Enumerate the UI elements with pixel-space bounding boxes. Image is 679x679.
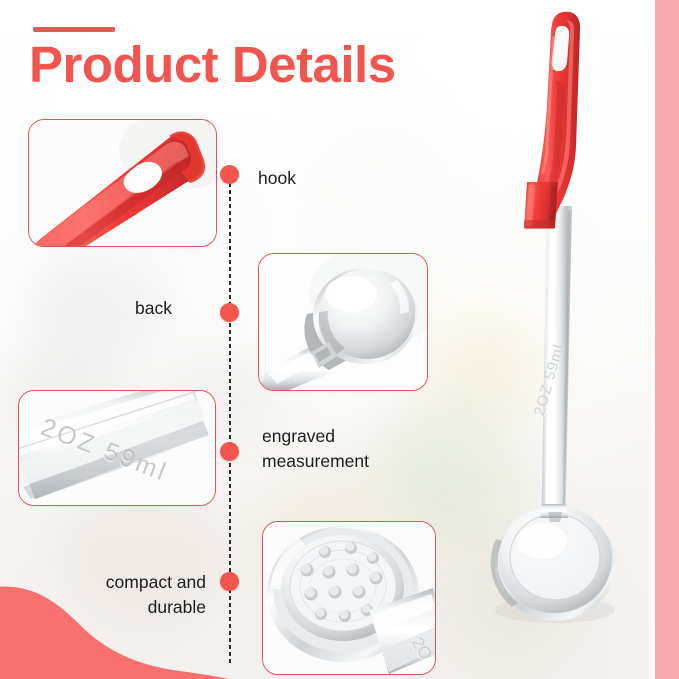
connector-dotted-line — [229, 176, 231, 666]
callout-label-back: back — [135, 296, 172, 321]
callout-dot-back — [220, 303, 239, 322]
title-accent-bar — [33, 27, 115, 32]
callout-image-hook — [28, 119, 217, 247]
callout-image-compact-durable: 2O — [262, 521, 436, 675]
callout-label-compact: compact and durable — [86, 570, 206, 621]
callout-image-back — [258, 253, 428, 391]
callout-label-hook: hook — [258, 166, 296, 191]
callout-dot-hook — [220, 165, 239, 184]
hero-product-image — [480, 0, 670, 646]
callout-dot-compact — [220, 572, 239, 591]
callout-dot-engraved — [220, 442, 239, 461]
page-title: Product Details — [29, 38, 396, 92]
callout-image-engraved-measurement: 2OZ 59ml — [18, 390, 216, 506]
product-details-infographic: 2OZ 59ml Product Details — [0, 0, 679, 679]
callout-label-engraved: engraved measurement — [262, 424, 369, 475]
